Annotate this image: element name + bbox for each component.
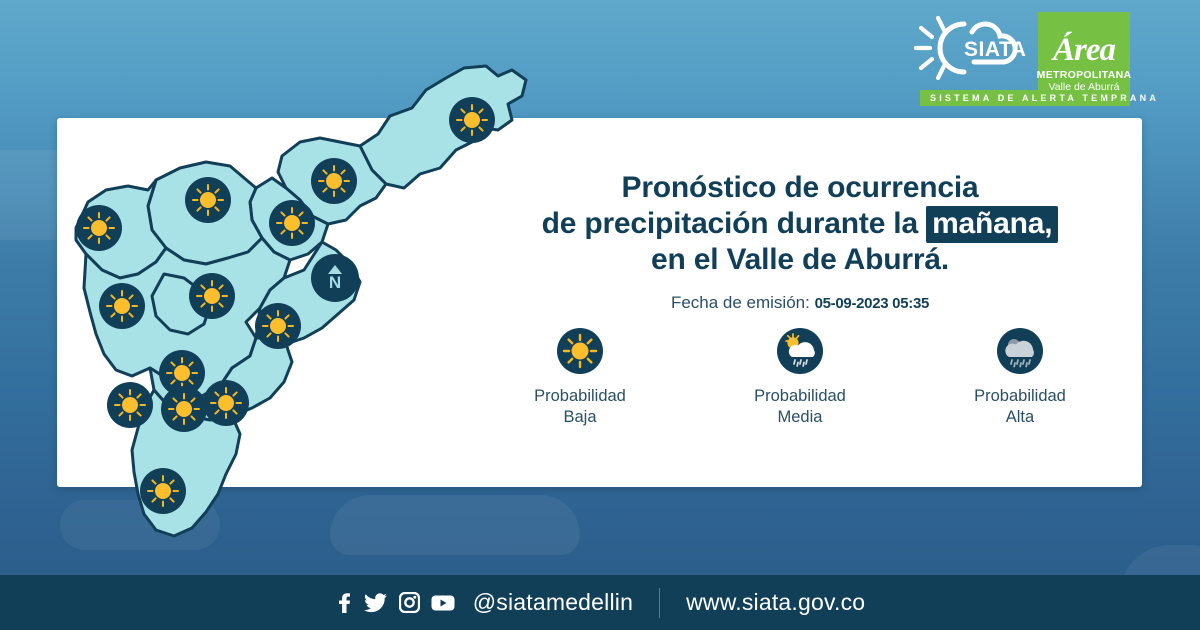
marker-medellin (189, 273, 235, 319)
social-handle[interactable]: @siatamedellin (473, 589, 633, 616)
marker-bello (185, 177, 231, 223)
marker-medellin-norte (99, 283, 145, 329)
legend-label-baja-line1: Probabilidad (534, 386, 626, 407)
legend-label-alta-line2: Alta (974, 407, 1066, 428)
marker-caldas-sur (140, 468, 186, 514)
marker-barbosa (449, 97, 495, 143)
legend-label-media-line1: Probabilidad (754, 386, 846, 407)
area-metropolitana-logo: Área METROPOLITANA Valle de Aburrá (1038, 12, 1130, 98)
marker-copacabana (269, 200, 315, 246)
poster-root: SIATA Área METROPOLITANA Valle de Aburrá… (0, 0, 1200, 630)
footer-divider (659, 588, 660, 618)
sun-icon (557, 328, 603, 374)
legend-label-alta: Probabilidad Alta (974, 386, 1066, 428)
svg-text:SIATA: SIATA (964, 38, 1026, 61)
footer-bar: @siatamedellin www.siata.gov.co (0, 575, 1200, 630)
youtube-icon[interactable] (431, 594, 455, 612)
social-icons (335, 592, 455, 614)
instagram-icon[interactable] (399, 592, 420, 613)
headline-block: Pronóstico de ocurrencia de precipitació… (470, 170, 1130, 313)
compass-label: N (329, 275, 341, 291)
title-line-2-text: de precipitación durante la (542, 207, 927, 240)
marker-sabaneta (107, 382, 153, 428)
legend-item-baja: Probabilidad Baja (495, 328, 665, 428)
legend-label-media: Probabilidad Media (754, 386, 846, 428)
tagline-banner: SISTEMA DE ALERTA TEMPRANA (920, 90, 1130, 106)
legend-item-alta: Probabilidad Alta (935, 328, 1105, 428)
issue-date: Fecha de emisión: 05-09-2023 05:35 (470, 293, 1130, 313)
marker-san-pedro (76, 205, 122, 251)
legend-label-alta-line1: Probabilidad (974, 386, 1066, 407)
website-url[interactable]: www.siata.gov.co (686, 589, 865, 616)
area-line-1: METROPOLITANA (1037, 69, 1132, 81)
issue-date-value: 05-09-2023 05:35 (815, 295, 929, 312)
title-line-3: en el Valle de Aburrá. (470, 242, 1130, 278)
rain-cloud-icon (997, 328, 1043, 374)
facebook-icon[interactable] (335, 592, 353, 614)
brand-logos: SIATA Área METROPOLITANA Valle de Aburrá (908, 12, 1130, 98)
marker-girardota (311, 158, 357, 204)
legend-label-media-line2: Media (754, 407, 846, 428)
probability-legend: Probabilidad Baja (470, 328, 1130, 428)
legend-label-baja-line2: Baja (534, 407, 626, 428)
marker-caldas (203, 380, 249, 426)
page-title: Pronóstico de ocurrencia de precipitació… (470, 170, 1130, 278)
legend-item-media: Probabilidad Media (715, 328, 885, 428)
title-highlight: mañana, (926, 206, 1058, 243)
marker-envigado (255, 303, 301, 349)
area-wordmark: Área (1053, 34, 1115, 67)
title-line-1: Pronóstico de ocurrencia (470, 170, 1130, 206)
compass-north-icon: N (311, 254, 359, 302)
marker-la-estrella (161, 386, 207, 432)
sun-rain-cloud-icon (777, 328, 823, 374)
issue-date-label: Fecha de emisión: (671, 293, 810, 312)
title-line-2: de precipitación durante la mañana, (470, 206, 1130, 242)
siata-logo: SIATA (908, 12, 1028, 84)
twitter-icon[interactable] (364, 592, 388, 614)
legend-label-baja: Probabilidad Baja (534, 386, 626, 428)
